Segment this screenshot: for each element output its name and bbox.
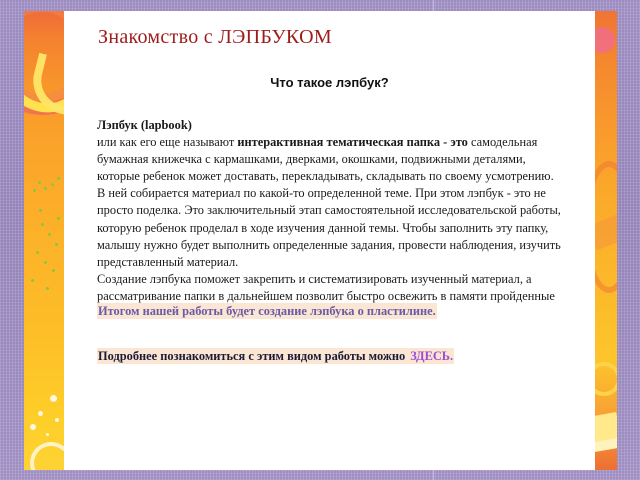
green-dot-icon [32, 188, 36, 192]
body-text: Лэпбук (lapbook)или как его еще называют… [97, 117, 565, 322]
green-dot-icon [43, 186, 47, 190]
conclusion-block: Итогом нашей работы будет создание лэпбу… [97, 303, 567, 365]
green-dot-icon [47, 232, 51, 236]
green-dot-icon [37, 180, 41, 184]
here-link[interactable]: ЗДЕСЬ. [409, 348, 454, 364]
green-dot-icon [56, 176, 60, 180]
page-title: Знакомство с ЛЭПБУКОМ [98, 26, 332, 49]
paragraph1-emphasis: интерактивная тематическая папка - это [237, 135, 468, 149]
white-bubble-icon [46, 433, 49, 436]
green-dot-icon [40, 222, 44, 226]
green-dot-icon [35, 250, 39, 254]
slide-content: Знакомство с ЛЭПБУКОМ Что такое лэпбук? … [64, 11, 595, 470]
green-dot-icon [30, 278, 34, 282]
section-heading: Что такое лэпбук? [64, 75, 595, 90]
term-label: Лэпбук (lapbook) [97, 118, 192, 132]
green-dot-icon [54, 242, 58, 246]
white-spiral-icon [30, 442, 64, 470]
green-dot-icon [56, 216, 60, 220]
white-bubble-icon [30, 424, 36, 430]
paragraph1-part2: самодельная бумажная книжечка с кармашка… [97, 135, 561, 269]
pink-blob-icon [595, 27, 615, 53]
slide-canvas: Знакомство с ЛЭПБУКОМ Что такое лэпбук? … [0, 0, 640, 480]
green-dot-icon [38, 208, 42, 212]
result-line-wrap: Итогом нашей работы будет создание лэпбу… [97, 303, 567, 320]
green-dot-icon [50, 182, 54, 186]
result-line: Итогом нашей работы будет создание лэпбу… [97, 303, 437, 319]
green-dot-icon [45, 286, 49, 290]
left-ornament-strip [24, 11, 64, 470]
white-bubble-icon [55, 418, 59, 422]
more-line-prefix: Подробнее познакомиться с этим видом раб… [97, 348, 409, 364]
green-dot-icon [51, 268, 55, 272]
slide-body: Знакомство с ЛЭПБУКОМ Что такое лэпбук? … [24, 11, 617, 470]
green-dot-icon [43, 260, 47, 264]
yellow-ring-icon [595, 362, 617, 396]
white-bubble-icon [38, 411, 43, 416]
right-ornament-strip [595, 11, 617, 470]
white-bubble-icon [50, 395, 57, 402]
more-line-wrap: Подробнее познакомиться с этим видом раб… [97, 348, 567, 365]
paragraph1-part1: или как его еще называют [97, 135, 237, 149]
body-paragraph-1: Лэпбук (lapbook)или как его еще называют… [97, 117, 565, 271]
